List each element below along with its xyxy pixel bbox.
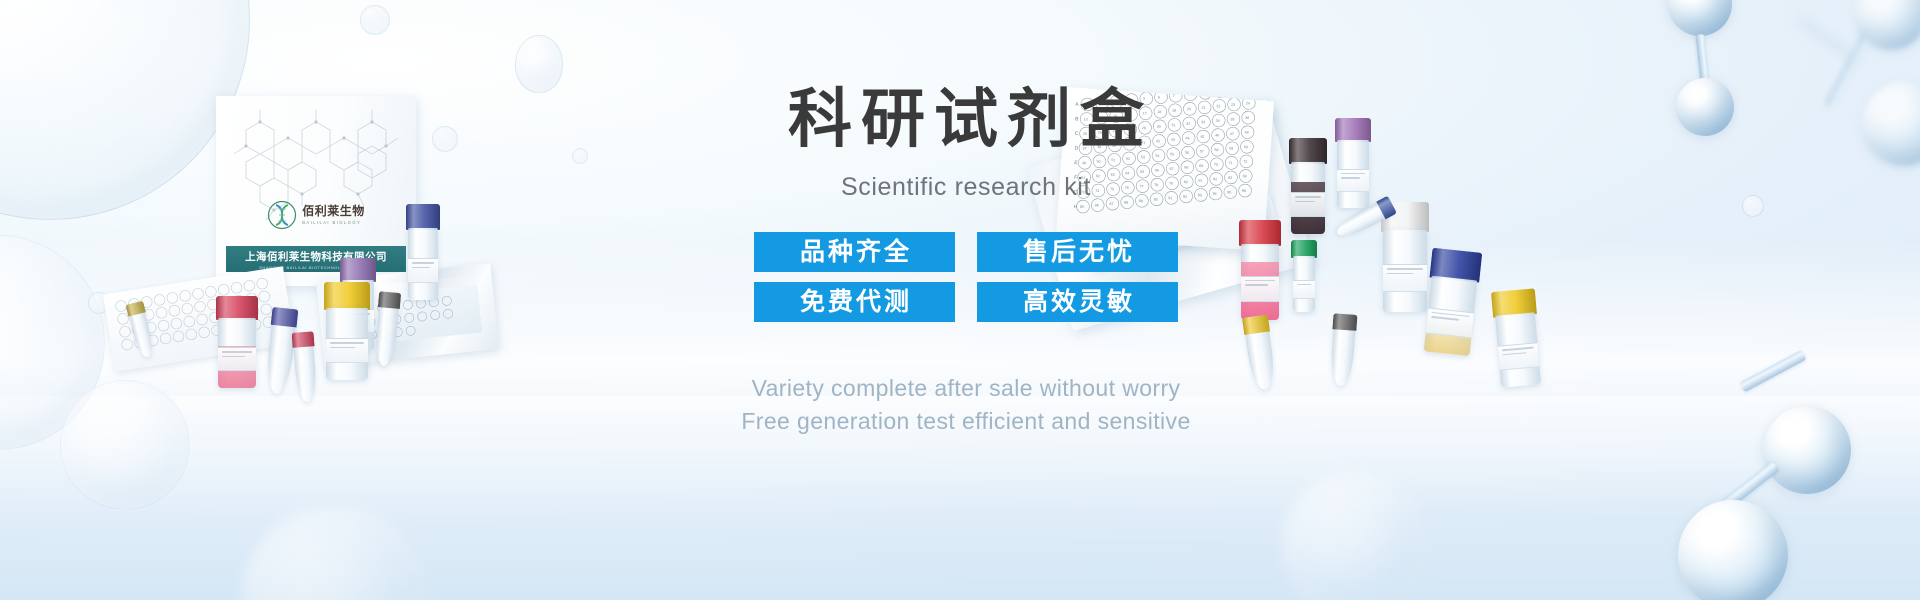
feature-tag-variety-complete[interactable]: 品种齐全	[754, 232, 955, 272]
tube-cap	[271, 307, 299, 328]
vial-body	[326, 308, 368, 380]
tagline-line-1: Variety complete after sale without worr…	[556, 372, 1376, 405]
molecule-node-icon	[1862, 82, 1920, 166]
tube-cap	[292, 331, 315, 347]
reagent-vial	[1422, 248, 1483, 357]
molecule-node-icon	[1763, 406, 1851, 494]
water-bubble-icon	[1742, 195, 1764, 217]
left-product-group: 佰利莱生物 BAILILAI BIOLOGY 上海佰利莱生物科技有限公司 SHA…	[108, 96, 538, 396]
molecule-bond	[1720, 461, 1779, 511]
banner-tagline: Variety complete after sale without worr…	[556, 372, 1376, 437]
vial-label	[1426, 307, 1474, 337]
sample-tube	[292, 331, 319, 402]
molecule-node-icon	[1676, 78, 1734, 136]
water-bubble-icon	[240, 505, 430, 600]
product-banner: 佰利莱生物 BAILILAI BIOLOGY 上海佰利莱生物科技有限公司 SHA…	[0, 0, 1920, 600]
reagent-vial	[1381, 202, 1429, 312]
water-bubble-icon	[1280, 470, 1430, 600]
brand-name-cn: 佰利莱生物	[302, 205, 365, 218]
molecule-node-icon	[1678, 500, 1788, 600]
vial-cap	[340, 258, 376, 282]
molecule-bond	[1739, 350, 1806, 393]
molecule-bond	[1696, 34, 1711, 93]
vial-cap	[324, 282, 370, 310]
feature-tag-row: 品种齐全 售后无忧	[754, 232, 1178, 272]
page-subtitle: Scientific research kit	[556, 173, 1376, 202]
brand-logo: 佰利莱生物 BAILILAI BIOLOGY	[216, 200, 416, 230]
dna-helix-icon	[267, 200, 297, 230]
feature-tag-row: 免费代测 高效灵敏	[754, 282, 1178, 322]
vial-label	[1383, 264, 1427, 292]
molecule-bond	[1797, 11, 1861, 61]
vial-label	[1498, 342, 1540, 370]
molecule-node-icon	[1668, 0, 1732, 36]
vial-body	[1383, 230, 1427, 312]
reagent-kit-box: 佰利莱生物 BAILILAI BIOLOGY 上海佰利莱生物科技有限公司 SHA…	[216, 96, 416, 286]
reagent-vial	[1491, 288, 1543, 387]
brand-name-en: BAILILAI BIOLOGY	[302, 220, 365, 225]
vial-label	[326, 338, 368, 362]
reagent-vial	[216, 296, 258, 388]
tube-cap	[378, 291, 401, 309]
vial-cap	[216, 296, 258, 320]
water-bubble-icon	[360, 5, 390, 35]
molecule-node-icon	[1855, 0, 1920, 50]
water-bubble-icon	[515, 35, 563, 93]
water-bubble-icon	[60, 380, 190, 510]
vial-body	[1424, 276, 1478, 356]
vial-label	[408, 258, 438, 282]
reagent-vial	[406, 204, 440, 300]
water-bubble-icon	[0, 235, 105, 450]
reagent-vial	[324, 282, 370, 380]
molecule-bond	[1825, 29, 1875, 110]
vial-cap	[406, 204, 440, 230]
vial-body	[218, 318, 256, 388]
company-name-band: 上海佰利莱生物科技有限公司 SHANGHAI BAILILAI BIOTECHN…	[226, 246, 406, 272]
feature-tag-after-sale[interactable]: 售后无忧	[977, 232, 1178, 272]
vial-body	[1495, 312, 1541, 387]
vial-body	[408, 228, 438, 300]
tagline-line-2: Free generation test efficient and sensi…	[556, 405, 1376, 438]
feature-tag-efficient-sensitive[interactable]: 高效灵敏	[977, 282, 1178, 322]
feature-tag-free-test[interactable]: 免费代测	[754, 282, 955, 322]
page-title: 科研试剂盒	[556, 86, 1376, 153]
banner-text-block: 科研试剂盒 Scientific research kit 品种齐全 售后无忧 …	[556, 86, 1376, 438]
vial-label	[218, 347, 256, 371]
feature-tag-grid: 品种齐全 售后无忧 免费代测 高效灵敏	[754, 232, 1178, 322]
